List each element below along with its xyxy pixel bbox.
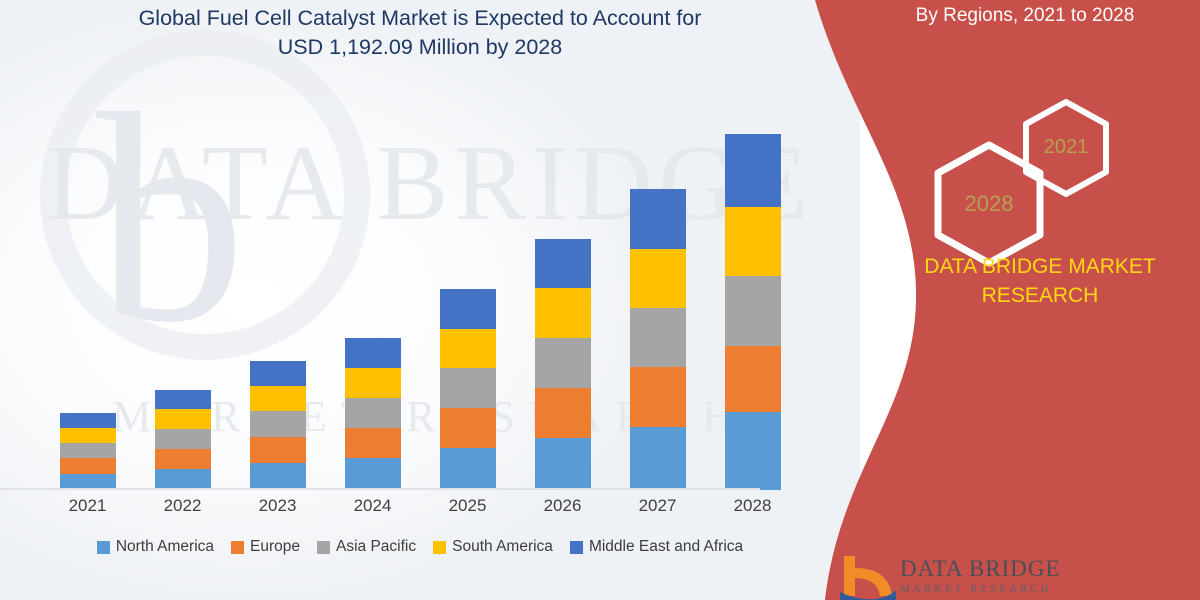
bar-segment	[250, 386, 306, 411]
bar-segment	[440, 408, 496, 448]
bar-segment	[250, 463, 306, 490]
stacked-bar-chart	[40, 110, 800, 490]
legend-item-europe[interactable]: Europe	[231, 538, 300, 556]
bar-segment	[345, 368, 401, 398]
legend-label: Asia Pacific	[336, 538, 416, 556]
legend-label: South America	[452, 538, 553, 556]
bar-segment	[440, 289, 496, 329]
stacked-bar[interactable]	[345, 338, 401, 490]
bar-segment	[345, 338, 401, 368]
bar-segment	[155, 390, 211, 409]
hexagon-2021: 2021	[1020, 98, 1112, 198]
legend-swatch-icon	[317, 541, 330, 554]
x-axis-label-2022: 2022	[135, 496, 230, 516]
bar-segment	[345, 428, 401, 458]
bar-column-2022	[135, 112, 230, 490]
legend-swatch-icon	[433, 541, 446, 554]
bar-segment	[725, 134, 781, 207]
bar-segment	[725, 276, 781, 346]
brand-text-line-2: RESEARCH	[880, 281, 1200, 310]
chart-legend: North AmericaEuropeAsia PacificSouth Ame…	[30, 538, 810, 556]
legend-label: Middle East and Africa	[589, 538, 743, 556]
legend-swatch-icon	[231, 541, 244, 554]
legend-item-south-america[interactable]: South America	[433, 538, 553, 556]
bar-segment	[250, 361, 306, 386]
bar-segment	[630, 367, 686, 427]
bar-column-2026	[515, 112, 610, 490]
chart-title-line-2: USD 1,192.09 Million by 2028	[40, 33, 800, 62]
logo-name: DATA BRIDGE	[900, 556, 1061, 582]
stacked-bar[interactable]	[535, 239, 591, 490]
bar-segment	[345, 458, 401, 490]
bar-segment	[630, 427, 686, 490]
x-axis-label-2026: 2026	[515, 496, 610, 516]
bar-segment	[60, 428, 116, 443]
bar-segment	[630, 308, 686, 367]
bar-column-2024	[325, 112, 420, 490]
legend-swatch-icon	[570, 541, 583, 554]
bar-segment	[725, 412, 781, 490]
bar-segment	[250, 411, 306, 437]
bar-segment	[630, 249, 686, 308]
stacked-bar[interactable]	[440, 289, 496, 490]
legend-swatch-icon	[97, 541, 110, 554]
stacked-bar[interactable]	[630, 189, 686, 490]
bar-segment	[155, 409, 211, 429]
legend-item-asia-pacific[interactable]: Asia Pacific	[317, 538, 416, 556]
bar-segment	[725, 346, 781, 412]
brand-text: DATA BRIDGE MARKET RESEARCH	[880, 252, 1200, 310]
x-axis-label-2027: 2027	[610, 496, 705, 516]
bar-segment	[440, 329, 496, 368]
bar-column-2023	[230, 112, 325, 490]
bar-segment	[60, 458, 116, 474]
bar-segment	[155, 449, 211, 469]
legend-item-middle-east-and-africa[interactable]: Middle East and Africa	[570, 538, 743, 556]
x-axis-label-2025: 2025	[420, 496, 515, 516]
bar-column-2027	[610, 112, 705, 490]
bar-segment	[250, 437, 306, 463]
logo-bridge-icon	[840, 552, 896, 600]
bar-segment	[535, 288, 591, 338]
brand-text-line-1: DATA BRIDGE MARKET	[880, 252, 1200, 281]
legend-item-north-america[interactable]: North America	[97, 538, 214, 556]
bar-segment	[440, 368, 496, 408]
panel-heading: By Regions, 2021 to 2028	[860, 5, 1190, 27]
legend-label: Europe	[250, 538, 300, 556]
bar-segment	[155, 469, 211, 490]
bar-column-2021	[40, 112, 135, 490]
bar-segment	[630, 189, 686, 249]
bar-segment	[60, 413, 116, 428]
stacked-bar[interactable]	[250, 361, 306, 490]
company-logo: DATA BRIDGE MARKET RESEARCH	[840, 552, 1190, 600]
logo-tagline: MARKET RESEARCH	[900, 583, 1051, 595]
stacked-bar[interactable]	[60, 413, 116, 490]
legend-label: North America	[116, 538, 214, 556]
bar-segment	[535, 438, 591, 490]
x-axis-labels: 20212022202320242025202620272028	[40, 496, 800, 516]
infographic-canvas: b DATA BRIDGE MARKET RESEARCH Global Fue…	[0, 0, 1200, 600]
bar-column-2025	[420, 112, 515, 490]
bar-segment	[440, 448, 496, 490]
bar-segment	[535, 239, 591, 288]
x-axis-label-2023: 2023	[230, 496, 325, 516]
chart-plot-area	[40, 112, 800, 490]
stacked-bar[interactable]	[155, 390, 211, 490]
stacked-bar[interactable]	[725, 134, 781, 490]
chart-title-line-1: Global Fuel Cell Catalyst Market is Expe…	[40, 4, 800, 33]
bar-segment	[535, 338, 591, 388]
bar-segment	[60, 443, 116, 458]
hexagon-2021-label: 2021	[1020, 136, 1112, 159]
bar-segment	[345, 398, 401, 428]
x-axis-label-2021: 2021	[40, 496, 135, 516]
bar-segment	[535, 388, 591, 438]
chart-title: Global Fuel Cell Catalyst Market is Expe…	[40, 4, 800, 62]
bar-segment	[155, 429, 211, 449]
x-axis-label-2024: 2024	[325, 496, 420, 516]
x-axis-line	[0, 488, 760, 490]
bar-segment	[725, 207, 781, 276]
